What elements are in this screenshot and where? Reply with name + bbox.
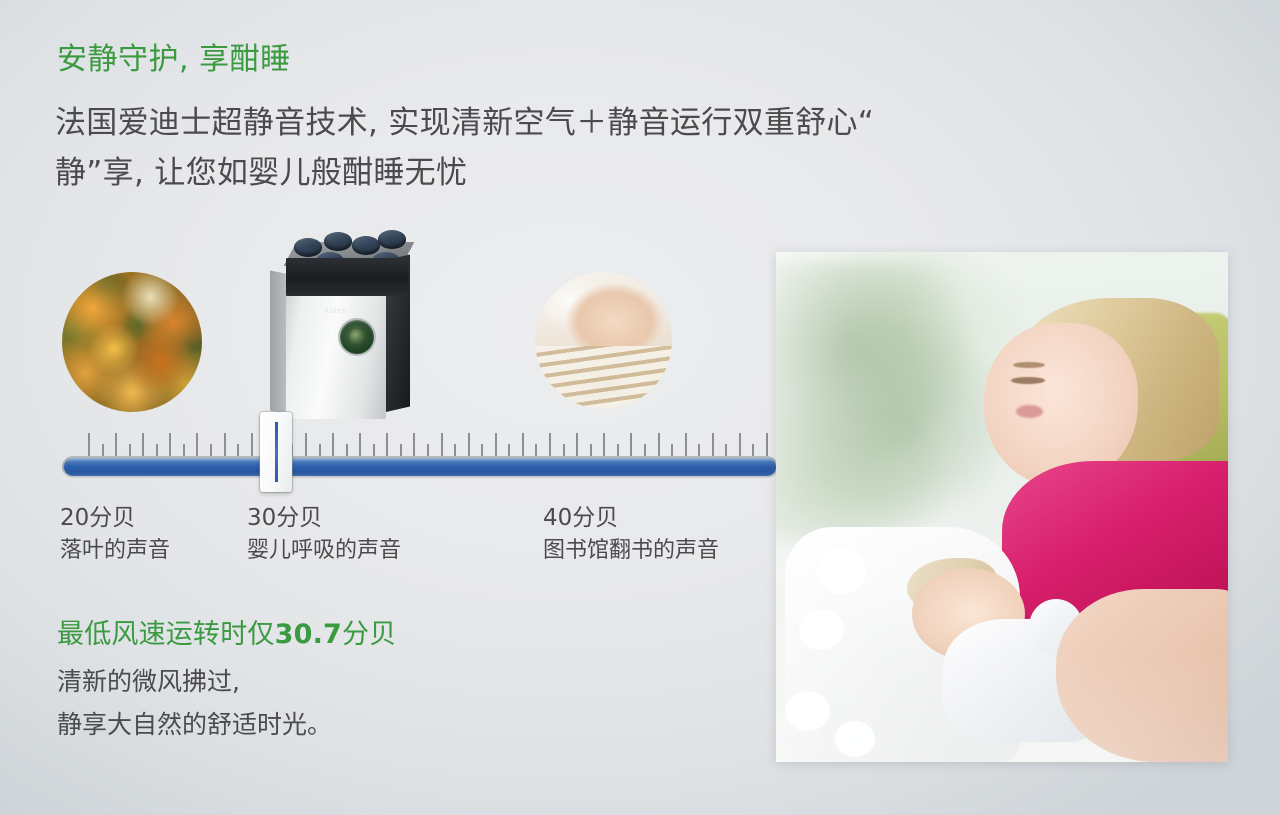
slider-tick (766, 433, 768, 456)
scale-description: 落叶的声音 (60, 535, 170, 566)
slider-tick (441, 433, 443, 456)
hero-background-foliage (776, 262, 1002, 537)
duct-collar-icon (378, 230, 406, 249)
slider-tick (630, 433, 632, 456)
page-title: 安静守护, 享酣睡 (57, 42, 291, 78)
decibel-slider[interactable] (62, 412, 778, 496)
duct-collar-icon (352, 236, 380, 255)
baby-photo (535, 272, 672, 409)
slider-tick (590, 444, 592, 456)
slider-tick (671, 444, 673, 456)
footer-highlight: 最低风速运转时仅30.7分贝 (57, 612, 396, 651)
slider-tick (495, 433, 497, 456)
scale-label-40db: 40分贝 图书馆翻书的声音 (543, 502, 719, 566)
unit-brand-label: Aldes (324, 308, 346, 315)
footer-body: 清新的微风拂过, 静享大自然的舒适时光。 (57, 660, 332, 746)
slider-tick (549, 433, 551, 456)
slider-tick (196, 433, 198, 456)
slider-tick (725, 444, 727, 456)
slider-track[interactable] (62, 456, 778, 478)
slider-tick (617, 444, 619, 456)
slider-tick (644, 444, 646, 456)
subheading-line-2: 静”享, 让您如婴儿般酣睡无忧 (55, 148, 1065, 198)
slider-tick (739, 433, 741, 456)
hero-pillow-dot (817, 548, 867, 594)
scale-description: 图书馆翻书的声音 (543, 535, 719, 566)
footer-body-line-2: 静享大自然的舒适时光。 (57, 703, 332, 746)
slider-tick (359, 433, 361, 456)
scale-value: 40分贝 (543, 502, 719, 535)
slider-tick (481, 444, 483, 456)
unit-top-panel: Aldes (286, 258, 408, 296)
slider-tick (413, 433, 415, 456)
hero-woman-brow (1013, 362, 1045, 368)
footer-highlight-suffix: 分贝 (342, 619, 396, 650)
slider-tick (427, 444, 429, 456)
unit-control-dial (340, 320, 374, 354)
subheading-line-1: 法国爱迪士超静音技术, 实现清新空气＋静音运行双重舒心“ (55, 98, 1065, 148)
slider-tick (603, 433, 605, 456)
slider-fill (64, 458, 776, 476)
hero-woman-eye (1011, 377, 1045, 384)
slider-tick (508, 444, 510, 456)
slider-tick (346, 444, 348, 456)
slider-tick (210, 444, 212, 456)
slider-tick (88, 433, 90, 456)
scale-label-30db: 30分贝 婴儿呼吸的声音 (247, 502, 401, 566)
slider-tick (373, 444, 375, 456)
slider-tick (468, 433, 470, 456)
footer-highlight-value: 30.7 (275, 619, 342, 650)
slider-tick (224, 433, 226, 456)
slider-tick (237, 444, 239, 456)
slider-tick (400, 444, 402, 456)
subheading: 法国爱迪士超静音技术, 实现清新空气＋静音运行双重舒心“ 静”享, 让您如婴儿般… (55, 98, 1065, 198)
slider-tick (115, 433, 117, 456)
duct-collar-icon (324, 232, 352, 251)
slide-root: 安静守护, 享酣睡 法国爱迪士超静音技术, 实现清新空气＋静音运行双重舒心“ 静… (0, 0, 1280, 815)
slider-tick (712, 433, 714, 456)
hero-pillow-dot (799, 609, 844, 650)
slider-tick (305, 433, 307, 456)
slider-tick (129, 444, 131, 456)
slider-tick (454, 444, 456, 456)
hero-pillow-dot (835, 721, 876, 757)
slider-tick (698, 444, 700, 456)
hero-woman-lip (1016, 405, 1043, 418)
slider-tick (535, 444, 537, 456)
scale-label-20db: 20分贝 落叶的声音 (60, 502, 170, 566)
ventilation-unit-image: Aldes (268, 226, 420, 424)
hero-photo (776, 252, 1228, 762)
scale-description: 婴儿呼吸的声音 (247, 535, 401, 566)
slider-tick (576, 433, 578, 456)
slider-ruler (88, 430, 766, 456)
slider-tick (142, 433, 144, 456)
slider-tick (386, 433, 388, 456)
slider-tick (156, 444, 158, 456)
slider-tick (332, 433, 334, 456)
slider-tick (685, 433, 687, 456)
slider-tick (251, 433, 253, 456)
slider-handle[interactable] (260, 412, 292, 492)
slider-tick (563, 444, 565, 456)
slider-tick (658, 433, 660, 456)
footer-body-line-1: 清新的微风拂过, (57, 660, 332, 703)
slider-tick (752, 444, 754, 456)
slider-tick (102, 444, 104, 456)
scale-value: 30分贝 (247, 502, 401, 535)
scale-value: 20分贝 (60, 502, 170, 535)
duct-collar-icon (294, 238, 322, 257)
footer-highlight-prefix: 最低风速运转时仅 (57, 619, 275, 650)
slider-tick (522, 433, 524, 456)
slider-tick (319, 444, 321, 456)
leaves-photo (62, 272, 202, 412)
slider-tick (183, 444, 185, 456)
slider-tick (169, 433, 171, 456)
